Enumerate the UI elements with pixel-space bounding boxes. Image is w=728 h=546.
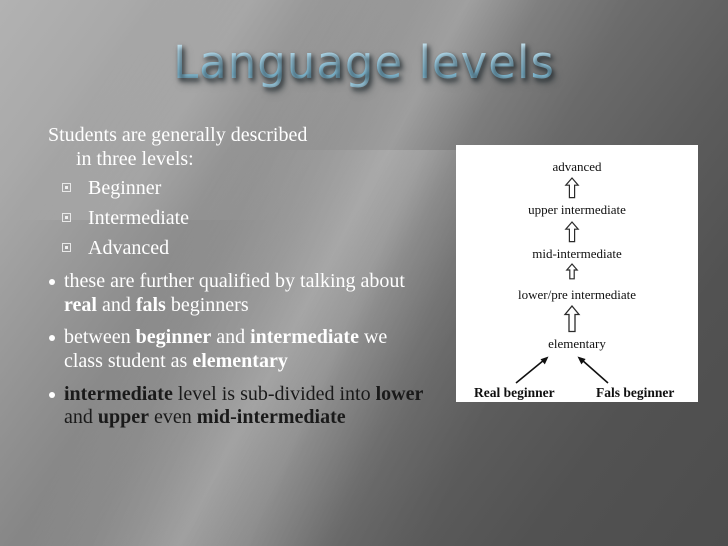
square-bullet-icon [62,243,71,252]
level-item-intermediate: Intermediate [48,205,430,231]
note-elementary: between beginner and intermediate we cla… [48,326,430,373]
emphasis-text: real [64,294,97,316]
lead-line-2: in three levels: [48,148,430,172]
language-levels-diagram: advanced upper intermediate mid-intermed… [456,145,698,402]
arrow-diagonal-up-right-icon [516,357,549,384]
diagram-source-fals-beginner: Fals beginner [596,385,674,401]
level-item-beginner: Beginner [48,175,430,201]
round-bullet-icon [49,335,55,341]
note-qualified: these are further qualified by talking a… [48,270,430,317]
emphasis-text: fals [136,294,166,316]
emphasis-text: intermediate [250,326,359,348]
lead-line-1: Students are generally described [48,124,307,146]
emphasis-text: lower [376,383,424,405]
plain-text: these are further qualified by talking a… [64,270,405,292]
plain-text: and [211,326,250,348]
level-label: Beginner [88,177,161,199]
plain-text: and [64,406,98,428]
round-bullet-icon [49,279,55,285]
emphasis-text: elementary [192,350,288,372]
note-subdivided: intermediate level is sub-divided into l… [48,383,430,430]
page-title: Language levels [0,36,728,89]
level-label: Intermediate [88,207,189,229]
plain-text: level is sub-divided into [173,383,376,405]
diagram-source-real-beginner: Real beginner [474,385,555,401]
emphasis-text: upper [98,406,149,428]
level-label: Advanced [88,237,169,259]
emphasis-text: intermediate [64,383,173,405]
plain-text: between [64,326,136,348]
diagram-source-arrows [456,145,698,402]
body-content: Students are generally described in thre… [48,124,430,430]
arrow-diagonal-up-left-icon [578,357,609,384]
emphasis-text: beginner [136,326,212,348]
square-bullet-icon [62,183,71,192]
square-bullet-icon [62,213,71,222]
slide: Language levels Students are generally d… [0,0,728,546]
plain-text: and [97,294,136,316]
emphasis-text: mid-intermediate [197,406,346,428]
round-bullet-icon [49,392,55,398]
note-text: between beginner and intermediate we cla… [64,326,387,372]
plain-text: beginners [166,294,249,316]
plain-text: even [149,406,197,428]
lead-paragraph: Students are generally described in thre… [48,124,430,171]
note-text: intermediate level is sub-divided into l… [64,383,423,429]
level-item-advanced: Advanced [48,235,430,261]
note-text: these are further qualified by talking a… [64,270,405,316]
